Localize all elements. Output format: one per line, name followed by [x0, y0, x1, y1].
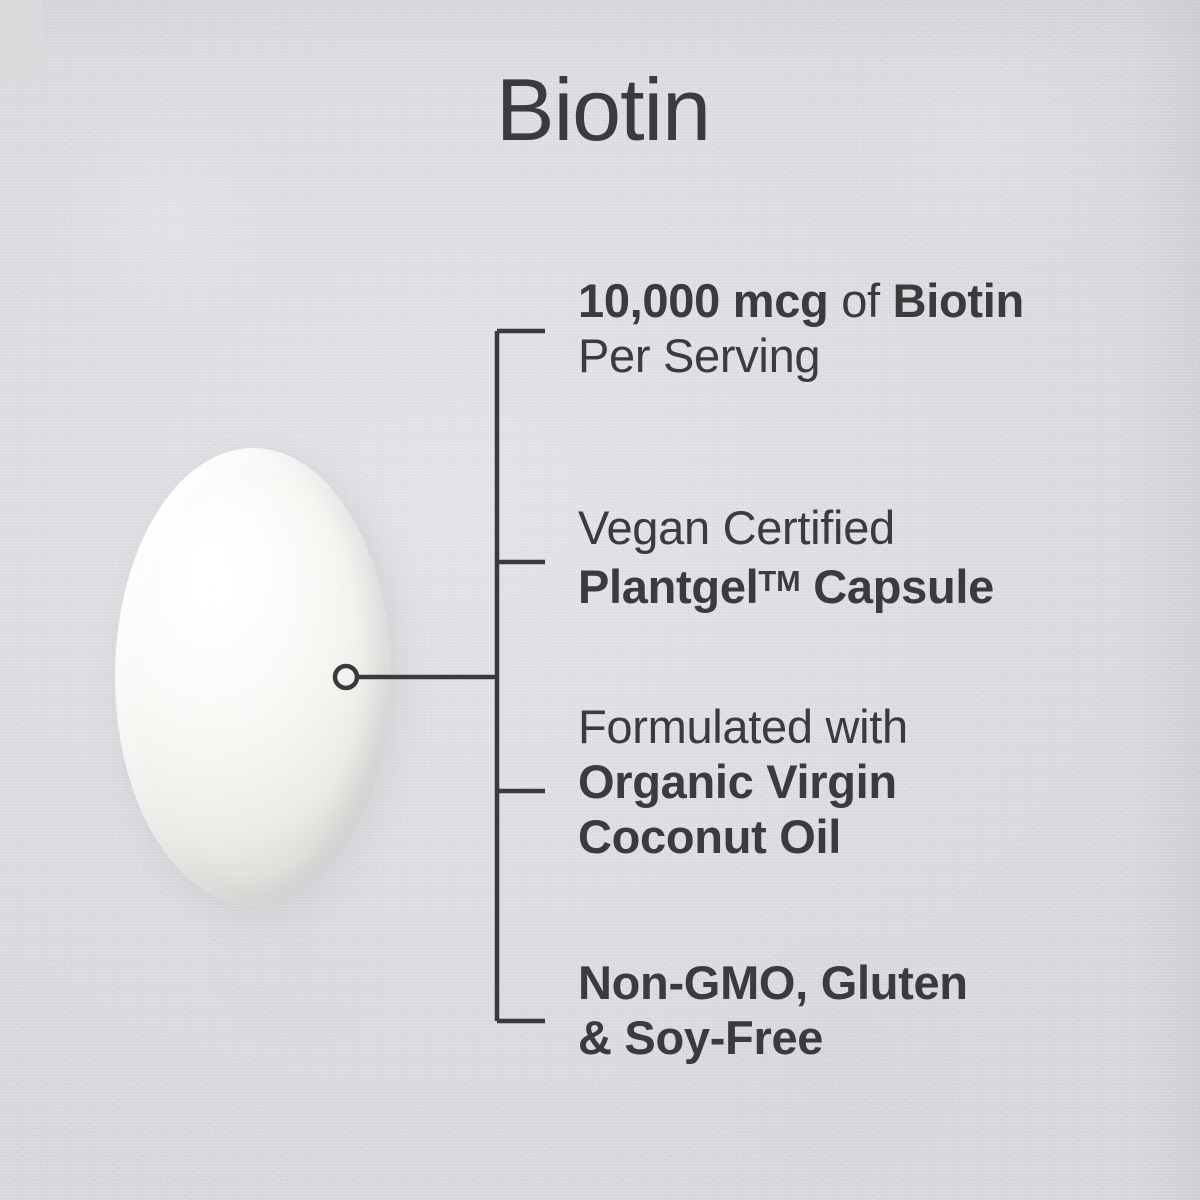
feature-list: 10,000 mcg of BiotinPer Serving Vegan Ce… — [578, 0, 1178, 1200]
feature-line: 10,000 mcg of Biotin — [578, 273, 1024, 328]
feature-line: Non-GMO, Gluten — [578, 955, 968, 1010]
feature-text-run: Biotin — [893, 274, 1024, 327]
feature-item-organic-coconut-oil: Formulated withOrganic VirginCoconut Oil — [578, 699, 908, 864]
feature-line: & Soy-Free — [578, 1010, 968, 1065]
capsule-image — [112, 444, 394, 908]
feature-line: Organic Virgin — [578, 754, 908, 809]
product-infographic: Biotin 10,000 mcg of BiotinPer Serving V… — [0, 0, 1200, 1200]
feature-line: Vegan Certified — [578, 500, 994, 555]
feature-text-run: Formulated with — [578, 700, 908, 753]
feature-line: Formulated with — [578, 699, 908, 754]
feature-text-run: Organic Virgin — [578, 755, 897, 808]
feature-text-run: of — [841, 274, 892, 327]
feature-text-run: & Soy-Free — [578, 1011, 823, 1064]
feature-item-biotin-dose: 10,000 mcg of BiotinPer Serving — [578, 273, 1024, 383]
capsule-highlight — [151, 494, 301, 684]
feature-line: Per Serving — [578, 328, 1024, 383]
feature-text-run: Per Serving — [578, 329, 820, 382]
feature-item-non-gmo-gluten-soy-free: Non-GMO, Gluten& Soy-Free — [578, 955, 968, 1065]
feature-item-vegan-plantgel-capsule: Vegan CertifiedPlantgelTM Capsule — [578, 500, 994, 614]
feature-line: Coconut Oil — [578, 809, 908, 864]
feature-text-run: Non-GMO, Gluten — [578, 956, 968, 1009]
capsule-body — [115, 448, 391, 905]
feature-text-run: Coconut Oil — [578, 810, 841, 863]
feature-line: PlantgelTM Capsule — [578, 555, 994, 614]
feature-text-run: Vegan Certified — [578, 501, 895, 554]
feature-text-run: 10,000 mcg — [578, 274, 841, 327]
trademark-symbol: TM — [758, 566, 800, 598]
feature-text-run: Plantgel — [578, 560, 758, 613]
feature-text-run: Capsule — [800, 560, 994, 613]
